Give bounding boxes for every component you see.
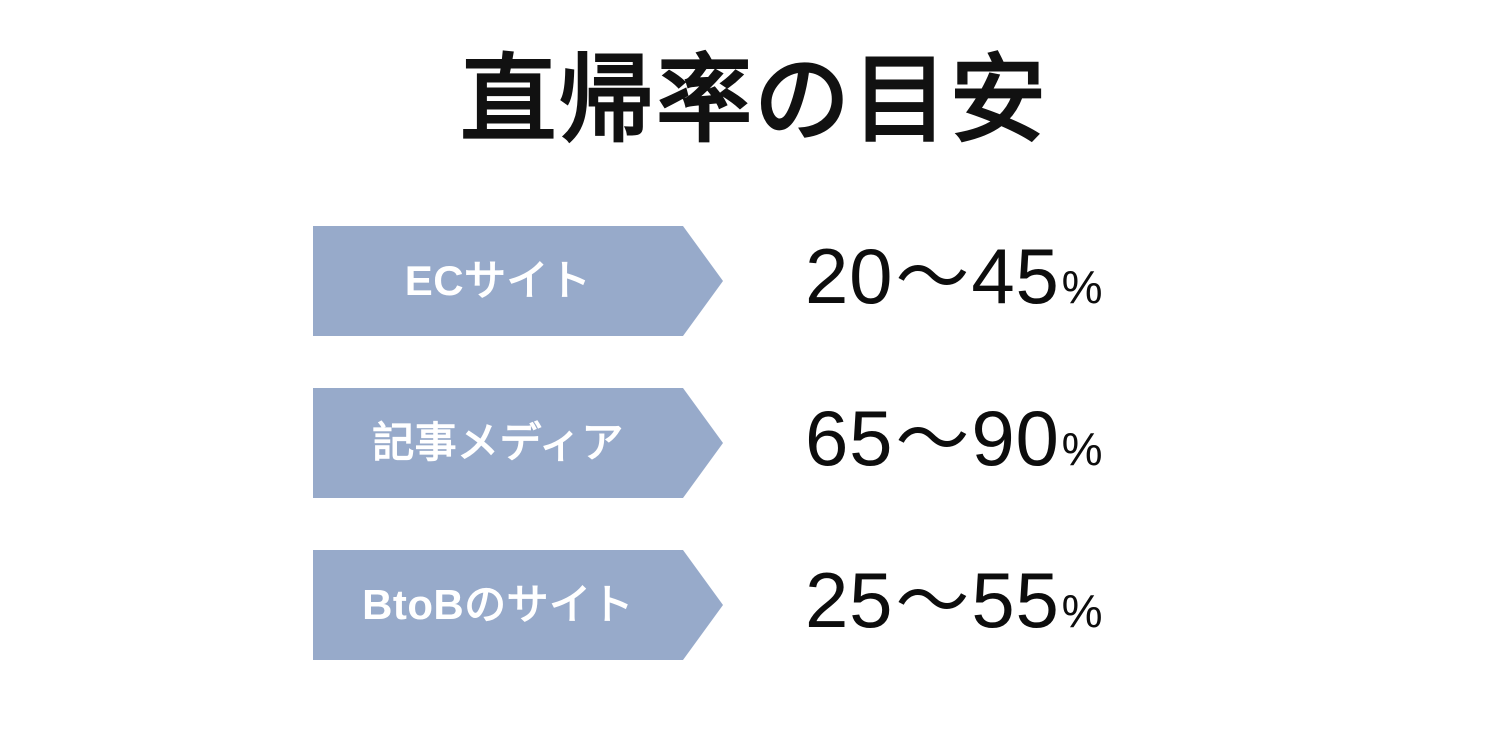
- list-item: ECサイト 20 〜 45 %: [313, 226, 1313, 336]
- bounce-rate-list: ECサイト 20 〜 45 % 記事メディア 65 〜 90 %: [0, 0, 1508, 740]
- range-low: 65: [805, 383, 893, 493]
- range-low: 25: [805, 545, 893, 655]
- arrow-banner-btob: BtoBのサイト: [313, 550, 723, 660]
- range-low: 20: [805, 221, 893, 331]
- percent-unit: %: [1062, 232, 1103, 342]
- list-item: 記事メディア 65 〜 90 %: [313, 388, 1313, 498]
- list-item: BtoBのサイト 25 〜 55 %: [313, 550, 1313, 660]
- value-range-ec: 20 〜 45 %: [805, 221, 1103, 342]
- arrow-label: ECサイト: [313, 226, 683, 336]
- percent-unit: %: [1062, 394, 1103, 504]
- range-separator: 〜: [893, 385, 971, 495]
- range-separator: 〜: [893, 547, 971, 657]
- range-high: 55: [971, 545, 1059, 655]
- percent-unit: %: [1062, 556, 1103, 666]
- range-high: 45: [971, 221, 1059, 331]
- value-range-media: 65 〜 90 %: [805, 383, 1103, 504]
- arrow-banner-media: 記事メディア: [313, 388, 723, 498]
- range-separator: 〜: [893, 223, 971, 333]
- arrow-banner-ec: ECサイト: [313, 226, 723, 336]
- arrow-label: BtoBのサイト: [313, 550, 683, 660]
- arrow-label: 記事メディア: [313, 388, 683, 498]
- value-range-btob: 25 〜 55 %: [805, 545, 1103, 666]
- infographic-canvas: 直帰率の目安 ECサイト 20 〜 45 % 記事メディア 65 〜: [0, 0, 1508, 740]
- range-high: 90: [971, 383, 1059, 493]
